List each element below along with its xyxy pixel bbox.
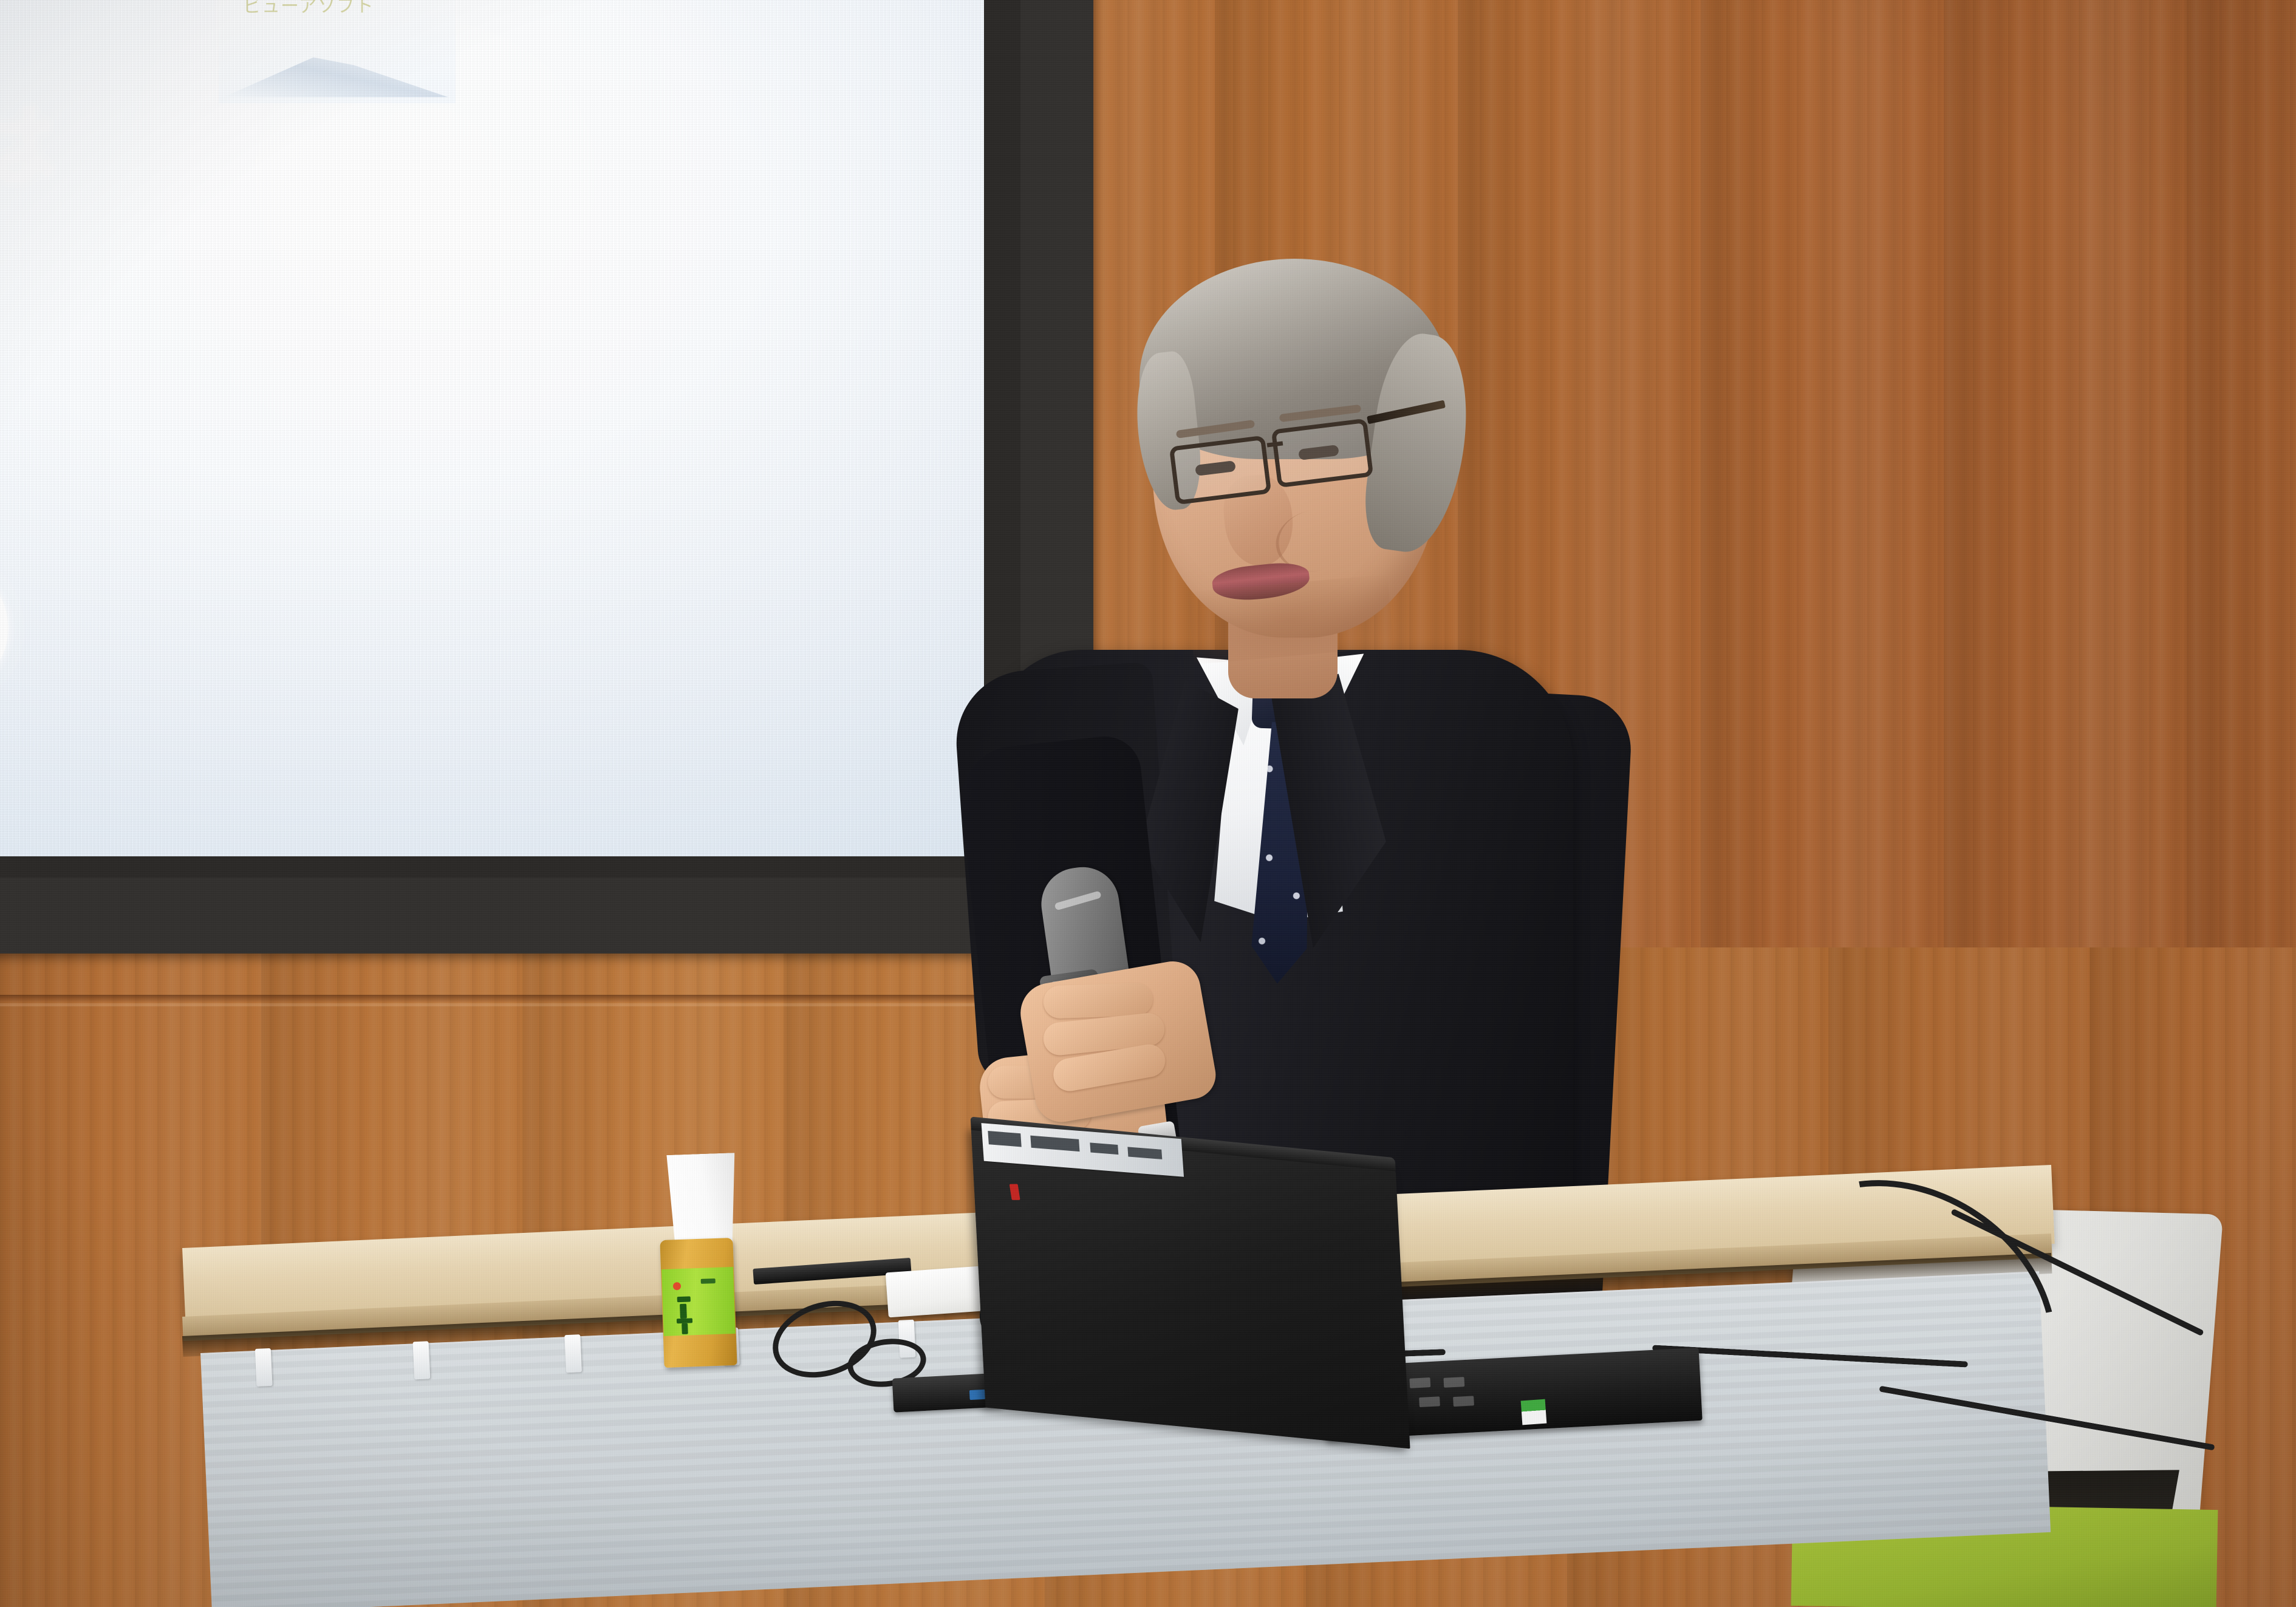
- sticker-bar: [1127, 1147, 1162, 1159]
- laptop-accessory: [1521, 1399, 1547, 1425]
- keyboard-key: [1453, 1396, 1474, 1407]
- sticker-bar: [1090, 1142, 1118, 1155]
- panel-clip: [413, 1341, 431, 1379]
- tea-label-mark: [677, 1296, 691, 1302]
- screen-fabric-texture: [0, 0, 984, 856]
- microphone-highlight: [1054, 890, 1101, 910]
- panel-clip: [255, 1348, 273, 1387]
- tea-bottle: [660, 1238, 737, 1368]
- tea-label-mark: [701, 1278, 716, 1284]
- keyboard-key: [1419, 1396, 1440, 1407]
- projection-screen-frame-inner: ） とは （） ビューアソフト: [0, 0, 1020, 878]
- sticker-bar: [1030, 1136, 1079, 1152]
- device-indicator: [969, 1390, 986, 1400]
- projection-screen: ） とは （） ビューアソフト: [0, 0, 984, 856]
- tea-label-mark: [680, 1304, 687, 1319]
- eyeglasses-lens-left: [1169, 435, 1272, 505]
- sticker-bar: [988, 1131, 1021, 1147]
- finger: [1043, 982, 1153, 1018]
- eyeglasses-lens-right: [1271, 418, 1374, 488]
- keyboard-key: [1409, 1377, 1430, 1388]
- paper-cup: [666, 1153, 737, 1246]
- keyboard-key: [1443, 1377, 1464, 1388]
- photograph-scene: ） とは （） ビューアソフト: [0, 0, 2296, 1607]
- panel-clip: [564, 1334, 582, 1373]
- projection-screen-frame: ） とは （） ビューアソフト: [0, 0, 1093, 954]
- laptop-lid: [971, 1127, 1410, 1449]
- tea-label-mark: [682, 1323, 688, 1334]
- tea-label-dot: [673, 1282, 681, 1290]
- tea-bottle-label: [661, 1267, 736, 1336]
- laptop-brand-dot: [1010, 1184, 1020, 1200]
